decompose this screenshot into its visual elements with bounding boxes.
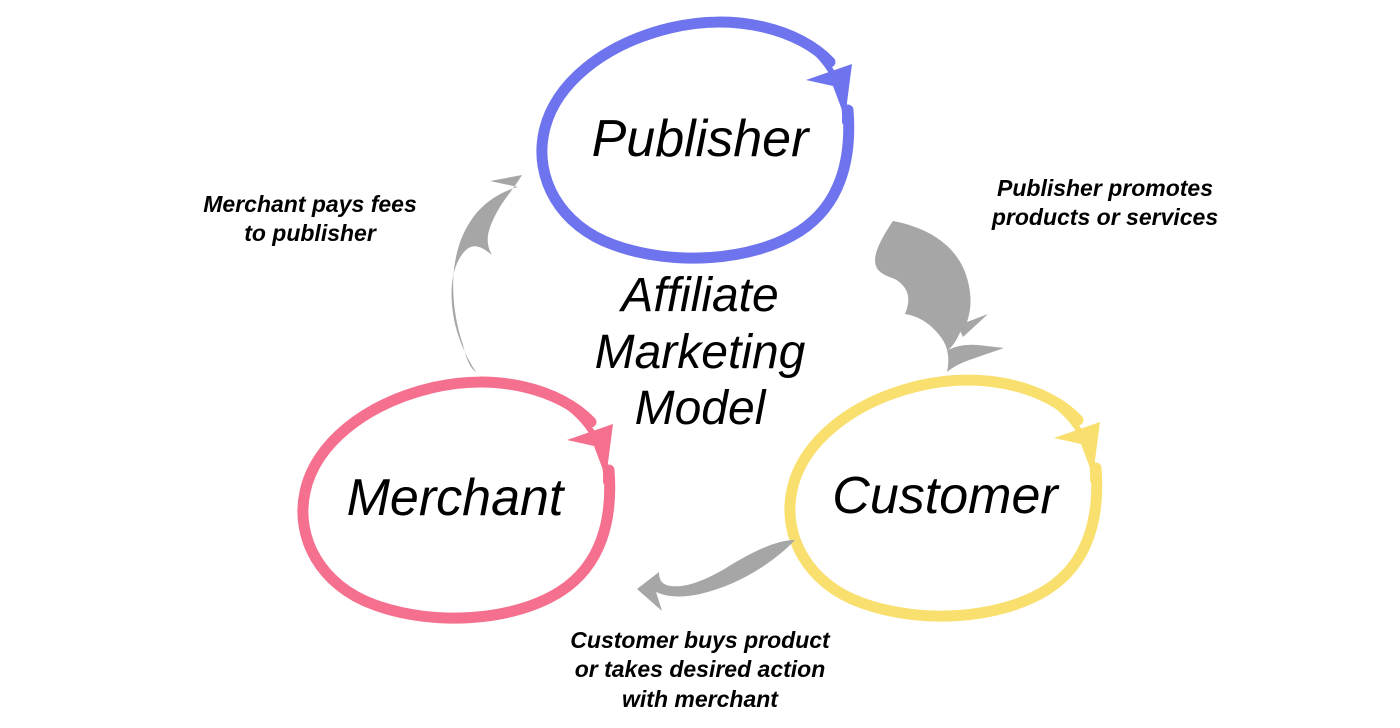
diagram-center-title: Affiliate Marketing Model [555, 268, 845, 438]
arrow-customer-to-merchant [637, 540, 795, 611]
customer-ellipse-arrowhead [1054, 422, 1100, 476]
arrow-shape-customer-merchant [637, 540, 795, 611]
edge-label-customer-to-merchant: Customer buys product or takes desired a… [510, 626, 890, 714]
node-label-merchant: Merchant [300, 472, 610, 524]
arrow-publisher-to-customer [875, 221, 1004, 372]
diagram-canvas: Publisher Merchant Customer Affiliate Ma… [0, 0, 1400, 728]
edge-label-publisher-to-customer: Publisher promotes products or services [955, 174, 1255, 233]
edge-label-merchant-to-publisher: Merchant pays fees to publisher [155, 190, 465, 249]
node-label-customer: Customer [790, 470, 1100, 522]
node-label-publisher: Publisher [545, 113, 855, 165]
publisher-ellipse-arrowhead [806, 64, 852, 118]
